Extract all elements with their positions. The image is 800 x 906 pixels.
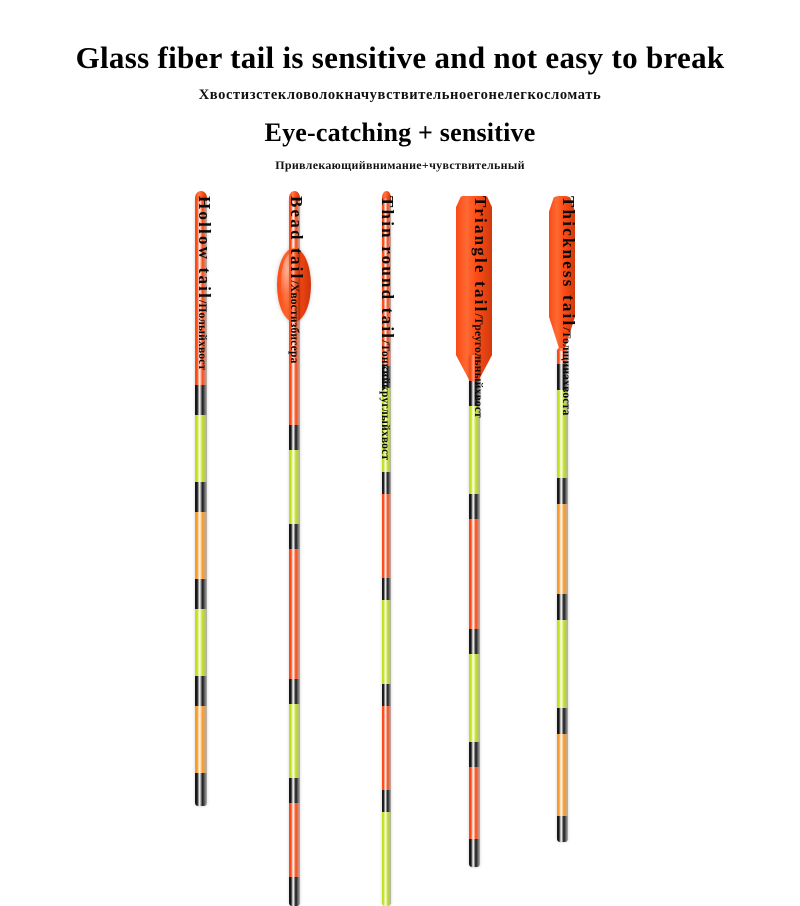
float-segment [289,425,300,450]
float-segment [289,704,300,778]
float-segment [289,450,300,524]
float-segment [195,385,207,415]
float-label-english: Thin round tail [378,196,397,340]
float-segment [469,742,480,767]
float-segment [195,512,207,579]
float-segment [289,803,300,877]
float-gallery: Hollow tail/ПолыйхвостBead tail/Хвостизб… [0,0,800,800]
float-segment [195,773,207,806]
float-label-russian: /Треугольныйхвост [472,314,484,418]
float-label-english: Triangle tail [471,196,490,314]
float-segment [289,679,300,704]
float-label-english: Bead tail [287,196,306,281]
float-label-russian: /Хвостизбисера [288,281,300,364]
float-label-russian: /Тонкийкруглыйхвост [379,340,391,460]
float-segment [557,594,568,620]
float-label-bead-tail: Bead tail/Хвостизбисера [286,196,306,364]
float-segment [382,790,391,812]
float-segment [469,519,480,629]
float-segment [557,734,568,816]
float-segment [557,504,568,594]
float-segment [382,578,391,600]
float-segment [469,654,480,742]
float-label-english: Thickness tail [559,196,578,327]
float-segment [557,816,568,842]
float-segment [382,812,391,906]
float-segment [469,406,480,494]
float-label-thickness-tail: Thickness tail/Толщинахвоста [558,196,578,416]
float-segment [289,778,300,803]
float-label-hollow-tail: Hollow tail/Полыйхвост [194,196,214,370]
float-segment [195,706,207,773]
float-segment [469,629,480,654]
float-segment [469,767,480,839]
float-segment [557,478,568,504]
float-stick [557,348,568,842]
float-segment [469,839,480,867]
float-segment [382,706,391,790]
float-segment [195,482,207,512]
float-segment [289,524,300,549]
float-label-thin-round-tail: Thin round tail/Тонкийкруглыйхвост [377,196,397,460]
float-segment [289,877,300,906]
float-segment [469,494,480,519]
float-segment [557,708,568,734]
float-stick [469,355,480,867]
float-segment [557,620,568,708]
float-segment [195,676,207,706]
float-segment [382,494,391,578]
float-segment [382,472,391,494]
float-segment [382,684,391,706]
float-segment [289,549,300,679]
float-label-russian: /Толщинахвоста [560,327,572,415]
float-segment [195,415,207,482]
float-label-english: Hollow tail [195,196,214,300]
float-label-russian: /Полыйхвост [196,300,208,370]
float-label-triangle-tail: Triangle tail/Треугольныйхвост [470,196,490,418]
float-segment [195,609,207,676]
float-segment [382,600,391,684]
float-segment [195,579,207,609]
